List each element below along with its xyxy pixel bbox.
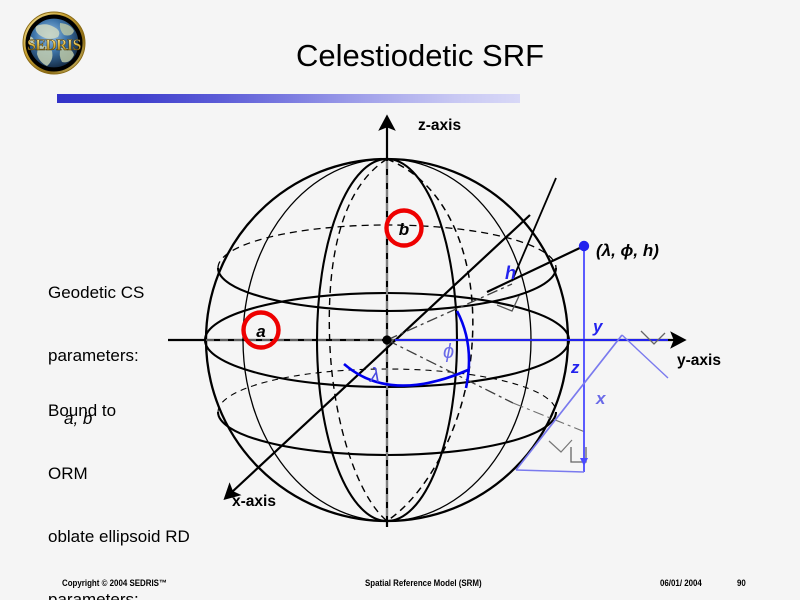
origin-point [382,335,391,344]
parameter-marker-a-label: a [256,322,265,341]
x-component-label: x [595,389,607,408]
parameter-marker-b: b [387,211,422,246]
point-coordinate-label: (λ, ϕ, h) [596,241,659,260]
footer-date: 06/01/ 2004 [660,578,702,588]
x-axis-interior-dash [270,243,500,457]
lambda-angle-arc [344,364,468,386]
x-component-line [516,335,622,470]
x-axis-label: x-axis [232,493,276,510]
celestiodetic-srf-diagram: a b z-axis y-axis x-axis (λ, ϕ, h) h y z… [0,0,800,600]
z-axis-label: z-axis [418,117,461,134]
y-component-label: y [592,317,604,336]
surface-normal-h-line [487,246,584,292]
parameter-marker-a: a [244,313,279,348]
h-label: h [505,263,516,283]
phi-label: ϕ [443,341,454,363]
phi-angle-arc [457,311,469,388]
right-angle-mark-base-2 [549,440,572,452]
z-component-label: z [570,358,580,377]
parameter-marker-b-label: b [399,220,409,239]
y-axis-label: y-axis [677,352,721,369]
x-component-corner [622,335,668,378]
footer-page-number: 90 [737,578,746,588]
slide-footer: Copyright © 2004 SEDRIS™ Spatial Referen… [0,572,800,594]
x-component-base [516,470,584,472]
lambda-label: λ [369,365,380,387]
footer-copyright: Copyright © 2004 SEDRIS™ [62,578,167,588]
footer-document-title: Spatial Reference Model (SRM) [365,578,482,588]
right-angle-mark-y [641,331,665,344]
celestiodetic-point [579,241,589,251]
slide-canvas: SEDRIS Celestiodetic SRF Geodetic CS par… [0,0,800,600]
normal-extension-line [512,178,556,281]
